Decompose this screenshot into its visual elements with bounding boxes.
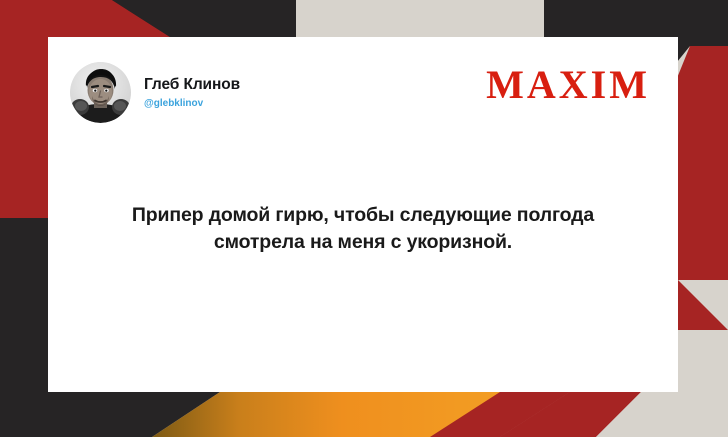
quote-line-2: смотрела на меня с укоризной.	[88, 229, 638, 256]
card-header: Глеб Клинов @glebklinov MAXIM	[48, 37, 678, 129]
maxim-logo: MAXIM	[486, 65, 650, 105]
author-handle[interactable]: @glebklinov	[144, 98, 240, 109]
avatar[interactable]	[70, 62, 131, 123]
author-name: Глеб Клинов	[144, 76, 240, 94]
screenshot-root: Глеб Клинов @glebklinov MAXIM Припер дом…	[0, 0, 728, 437]
author-block[interactable]: Глеб Клинов @glebklinov	[70, 62, 240, 123]
bg-right-beige-block	[678, 330, 728, 392]
quote-line-1: Припер домой гирю, чтобы следующие полго…	[88, 202, 638, 229]
quote-text: Припер домой гирю, чтобы следующие полго…	[88, 202, 638, 256]
tweet-card: Глеб Клинов @glebklinov MAXIM Припер дом…	[48, 37, 678, 392]
author-text: Глеб Клинов @glebklinov	[144, 76, 240, 110]
bg-top-beige-strip	[296, 0, 544, 38]
